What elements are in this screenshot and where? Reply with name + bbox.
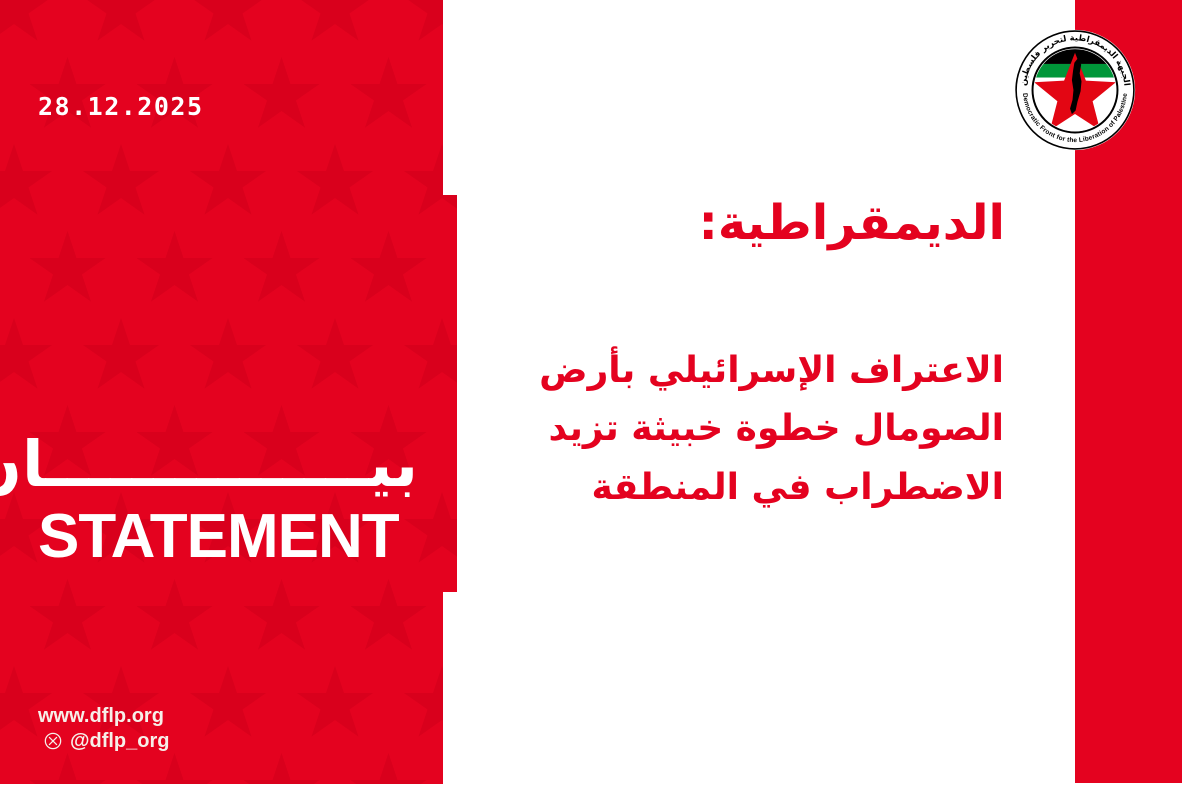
x-circle-icon: [44, 732, 62, 750]
statement-title-english: STATEMENT: [38, 504, 418, 569]
star-icon: [244, 579, 320, 592]
star-icon: [83, 318, 159, 394]
star-pattern: [0, 592, 443, 784]
footer-contact: www.dflp.org @dflp_org: [38, 705, 170, 752]
star-icon: [351, 231, 427, 307]
star-icon: [297, 144, 373, 195]
star-icon: [83, 195, 159, 220]
social-handle-row[interactable]: @dflp_org: [38, 730, 170, 752]
star-icon: [137, 592, 213, 655]
statement-title-block: بيـــــــــــــــان STATEMENT: [38, 432, 418, 569]
star-icon: [30, 231, 106, 307]
star-icon: [244, 231, 320, 307]
star-icon: [190, 144, 266, 195]
star-icon: [297, 0, 373, 46]
star-icon: [297, 666, 373, 742]
star-icon: [351, 57, 427, 133]
star-icon: [351, 753, 427, 784]
star-icon: [0, 195, 52, 220]
star-icon: [137, 753, 213, 784]
star-icon: [244, 57, 320, 133]
website-link[interactable]: www.dflp.org: [38, 705, 170, 727]
star-icon: [404, 666, 443, 742]
star-icon: [351, 579, 427, 592]
star-icon: [0, 144, 52, 195]
star-icon: [190, 318, 266, 394]
left-red-panel-bottom: [0, 592, 443, 784]
headline-arabic: الديمقراطية:: [445, 196, 1005, 251]
star-icon: [0, 0, 52, 46]
star-icon: [137, 579, 213, 592]
statement-title-arabic: بيـــــــــــــــان: [38, 432, 418, 498]
star-icon: [137, 231, 213, 307]
dflp-emblem-icon: الجبهة الديمقراطية لتحرير فلسطين Democra…: [1013, 28, 1137, 152]
star-icon: [244, 592, 320, 655]
social-handle-text: @dflp_org: [70, 730, 170, 752]
star-icon: [297, 195, 373, 220]
body-text-arabic: الاعتراف الإسرائيلي بأرض الصومال خطوة خب…: [459, 342, 1004, 517]
star-icon: [190, 666, 266, 742]
star-icon: [190, 0, 266, 46]
star-icon: [404, 318, 457, 394]
star-icon: [30, 753, 106, 784]
star-icon: [30, 592, 106, 655]
star-icon: [0, 318, 52, 394]
star-icon: [83, 0, 159, 46]
star-icon: [30, 579, 106, 592]
statement-poster: 28.12.2025 بيـــــــــــــــان STATEMENT…: [0, 0, 1182, 788]
star-icon: [244, 753, 320, 784]
star-icon: [404, 0, 443, 46]
publication-date: 28.12.2025: [38, 92, 204, 121]
star-icon: [404, 144, 443, 195]
star-icon: [190, 195, 266, 220]
star-icon: [297, 318, 373, 394]
star-icon: [83, 144, 159, 195]
star-icon: [351, 592, 427, 655]
